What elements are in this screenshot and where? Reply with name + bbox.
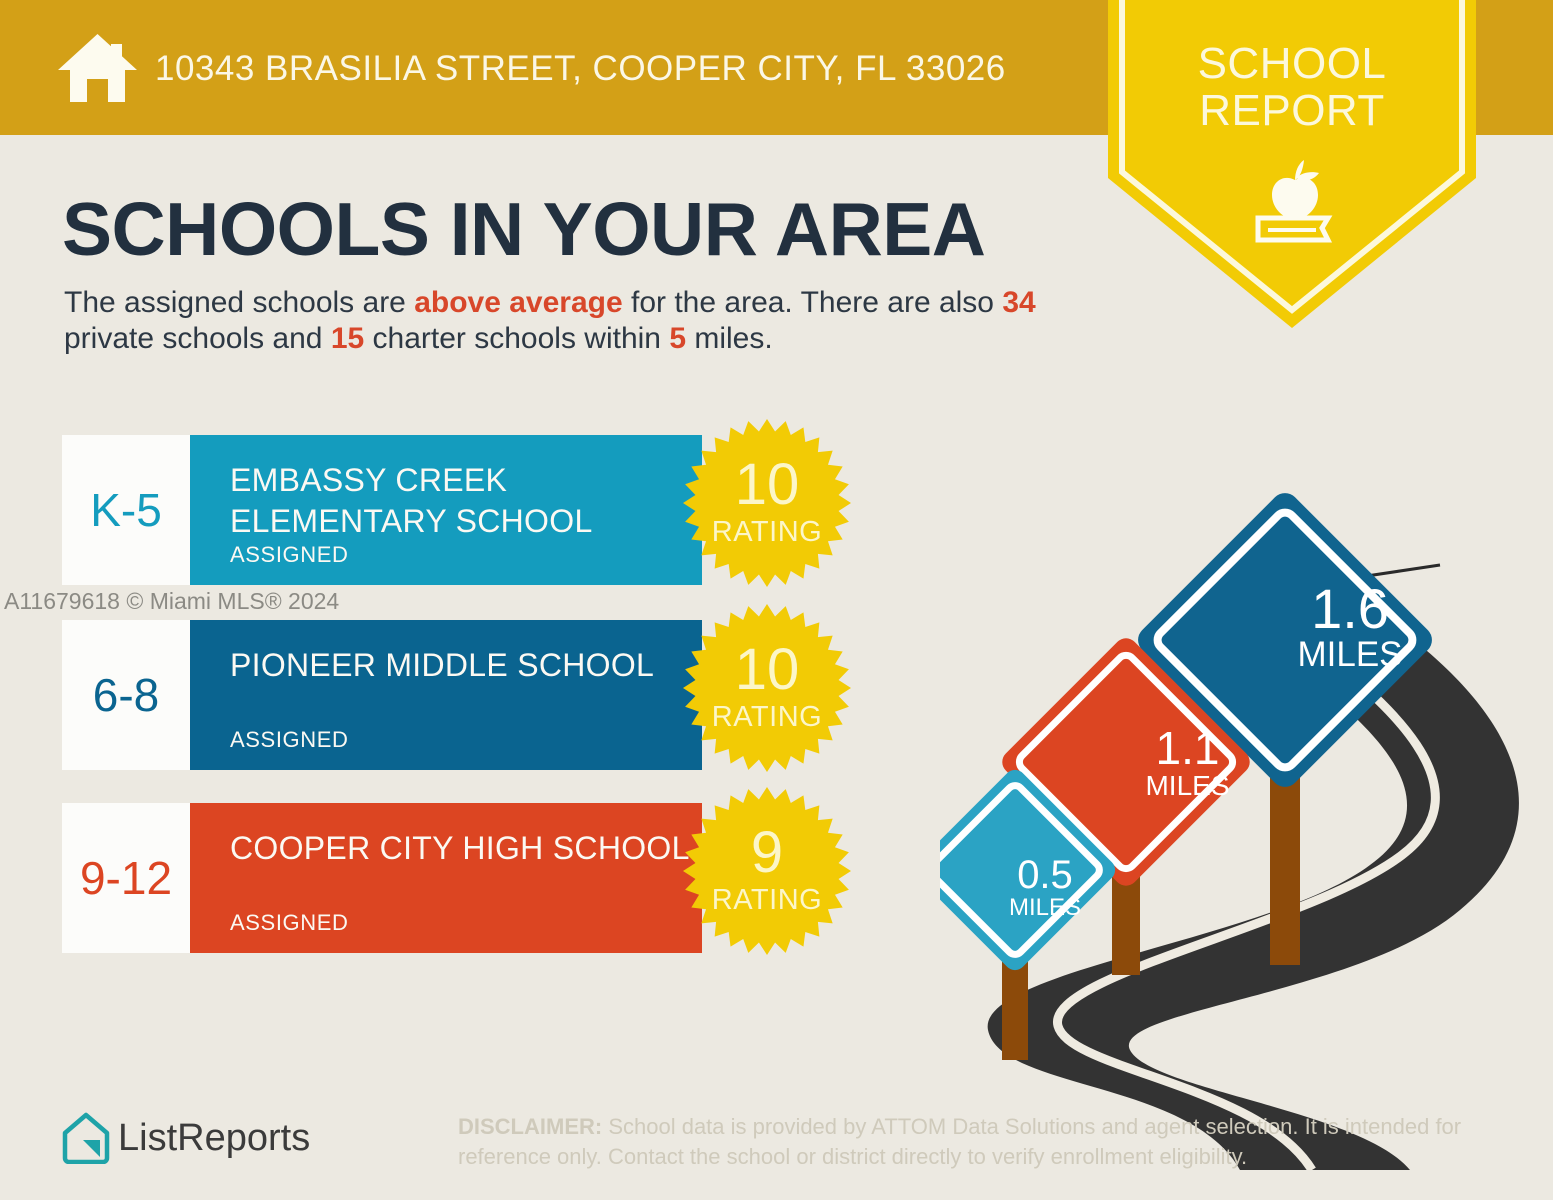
school-row[interactable]: 9-12 COOPER CITY HIGH SCHOOL ASSIGNED bbox=[62, 803, 702, 953]
school-status: ASSIGNED bbox=[230, 542, 349, 568]
page-title: SCHOOLS IN YOUR AREA bbox=[62, 186, 985, 272]
distance-value: 1.1 bbox=[1115, 725, 1260, 772]
house-logo-icon bbox=[62, 1112, 110, 1164]
summary-highlight-rating: above average bbox=[414, 286, 622, 319]
school-info-box: COOPER CITY HIGH SCHOOL ASSIGNED bbox=[190, 803, 702, 953]
grade-range-label: 9-12 bbox=[80, 851, 172, 905]
summary-part-1: The assigned schools are bbox=[64, 286, 414, 319]
disclaimer-text: DISCLAIMER: School data is provided by A… bbox=[458, 1112, 1478, 1172]
school-report-infographic: 10343 BRASILIA STREET, COOPER CITY, FL 3… bbox=[0, 0, 1553, 1200]
summary-highlight-charter-count: 15 bbox=[331, 322, 364, 355]
rating-badge: 10 RATING bbox=[682, 603, 852, 773]
badge-title: SCHOOL REPORT bbox=[1108, 40, 1476, 134]
rating-caption: RATING bbox=[682, 701, 852, 734]
badge-title-line2: REPORT bbox=[1108, 87, 1476, 134]
mls-watermark: A11679618 © Miami MLS® 2024 bbox=[4, 588, 339, 615]
distance-sign-label-3: 1.6 MILES bbox=[1265, 580, 1435, 673]
home-icon bbox=[55, 30, 140, 105]
property-address: 10343 BRASILIA STREET, COOPER CITY, FL 3… bbox=[155, 49, 1006, 89]
school-info-box: EMBASSY CREEK ELEMENTARY SCHOOL ASSIGNED bbox=[190, 435, 702, 585]
summary-highlight-private-count: 34 bbox=[1002, 286, 1035, 319]
distance-unit: MILES bbox=[1115, 772, 1260, 801]
grade-range-box: 6-8 bbox=[62, 620, 190, 770]
distance-sign-label-2: 1.1 MILES bbox=[1115, 725, 1260, 800]
distance-unit: MILES bbox=[985, 896, 1105, 920]
rating-value: 10 bbox=[682, 641, 852, 699]
school-name: PIONEER MIDDLE SCHOOL bbox=[230, 645, 690, 686]
rating-caption: RATING bbox=[682, 516, 852, 549]
road-illustration bbox=[940, 470, 1553, 1170]
apple-on-book-icon bbox=[1240, 150, 1350, 250]
school-info-box: PIONEER MIDDLE SCHOOL ASSIGNED bbox=[190, 620, 702, 770]
summary-part-5: miles. bbox=[686, 322, 773, 355]
school-name: EMBASSY CREEK ELEMENTARY SCHOOL bbox=[230, 460, 690, 542]
grade-range-box: K-5 bbox=[62, 435, 190, 585]
badge-title-line1: SCHOOL bbox=[1108, 40, 1476, 87]
distance-sign-label-1: 0.5 MILES bbox=[985, 855, 1105, 920]
rating-value: 10 bbox=[682, 456, 852, 514]
school-row[interactable]: 6-8 PIONEER MIDDLE SCHOOL ASSIGNED bbox=[62, 620, 702, 770]
school-status: ASSIGNED bbox=[230, 727, 349, 753]
grade-range-label: 6-8 bbox=[93, 668, 159, 722]
disclaimer-label: DISCLAIMER: bbox=[458, 1114, 602, 1139]
grade-range-label: K-5 bbox=[90, 483, 162, 537]
distance-value: 1.6 bbox=[1265, 580, 1435, 637]
summary-part-3: private schools and bbox=[64, 322, 331, 355]
distance-unit: MILES bbox=[1265, 637, 1435, 673]
summary-part-4: charter schools within bbox=[364, 322, 669, 355]
summary-text: The assigned schools are above average f… bbox=[64, 285, 1084, 357]
school-row[interactable]: K-5 EMBASSY CREEK ELEMENTARY SCHOOL ASSI… bbox=[62, 435, 702, 585]
rating-caption: RATING bbox=[682, 884, 852, 917]
brand-name: ListReports bbox=[118, 1117, 310, 1160]
school-name: COOPER CITY HIGH SCHOOL bbox=[230, 828, 690, 869]
rating-badge: 10 RATING bbox=[682, 418, 852, 588]
school-status: ASSIGNED bbox=[230, 910, 349, 936]
summary-part-2: for the area. There are also bbox=[623, 286, 1003, 319]
grade-range-box: 9-12 bbox=[62, 803, 190, 953]
summary-highlight-radius: 5 bbox=[669, 322, 686, 355]
rating-value: 9 bbox=[682, 824, 852, 882]
rating-badge: 9 RATING bbox=[682, 786, 852, 956]
distance-value: 0.5 bbox=[985, 855, 1105, 896]
disclaimer-body: School data is provided by ATTOM Data So… bbox=[458, 1114, 1461, 1169]
